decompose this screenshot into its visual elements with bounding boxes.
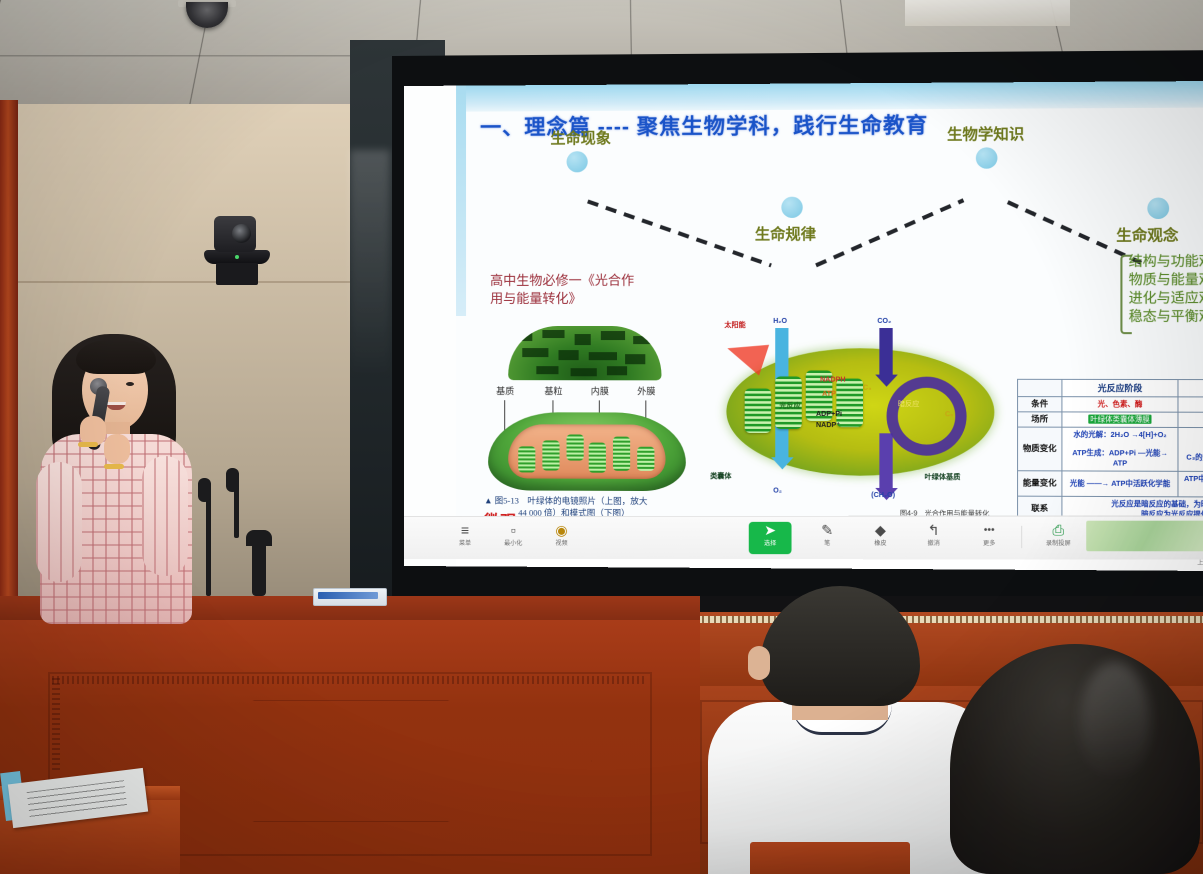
pen-icon: ✎ [806, 522, 849, 539]
more-icon: ••• [968, 522, 1011, 539]
output-label-o2: O₂ [773, 488, 782, 495]
node-label-2: 生命规律 [755, 223, 816, 244]
grana-stack [613, 437, 630, 471]
camera-status-led [235, 255, 239, 259]
concept-item-4: 稳态与平衡观等 [1129, 308, 1203, 326]
toolbar-menu-label: 菜单 [444, 540, 486, 549]
concept-item-1: 结构与功能观 [1129, 252, 1203, 271]
thylakoid-stack [745, 389, 771, 433]
toolbar-menu-button[interactable]: ≡ 菜单 [444, 522, 486, 549]
concept-item-3: 进化与适应观 [1129, 289, 1203, 307]
chloroplast-label-1: 基质 [496, 384, 514, 397]
cell-matter-dark-line2: C₃的还原：2C3 +ATP [H]→ (CH₂O)+C₅ [1181, 452, 1203, 463]
toolbar-minimize-button[interactable]: ▫ 最小化 [492, 522, 534, 549]
node-label-3: 生物学知识 [947, 123, 1024, 145]
node-dot-4 [1147, 198, 1169, 219]
node-dot-1 [567, 151, 588, 172]
presenter-bracelet-left [78, 442, 98, 447]
toolbar-record-cast-button[interactable]: ⎙ 录制投屏 [1031, 522, 1085, 549]
presenter-hand-right [104, 434, 130, 464]
photosynthesis-figure: 太阳能 H₂O CO₂ [708, 314, 1005, 532]
cell-location-light-text: 叶绿体类囊体薄膜 [1088, 415, 1152, 424]
input-label-water: H₂O [773, 318, 787, 325]
electron-micrograph-image [508, 326, 661, 380]
microphone-clip [252, 538, 266, 596]
calvin-cycle-ring [887, 377, 967, 456]
slide-left-accent [456, 86, 466, 316]
audience-1-hair [760, 586, 920, 706]
grana-stack [542, 440, 559, 470]
node-dot-3 [976, 147, 998, 168]
table-corner-cell [1018, 379, 1062, 396]
node-label-1: 生命现象 [550, 127, 611, 148]
grana-stack [518, 446, 535, 472]
toolbar-select-label: 选择 [749, 540, 792, 549]
chloroplast-label-2: 基粒 [544, 384, 562, 397]
toolbar-more-button[interactable]: ••• 更多 [968, 522, 1011, 549]
podium-comb-trim [52, 676, 646, 684]
cursor-select-icon: ➤ [749, 522, 792, 539]
audience-1-ear [748, 646, 770, 680]
leader-line-1 [504, 400, 505, 430]
menu-icon: ≡ [444, 522, 486, 539]
molecule-adp-pi: ADP+Pi [816, 411, 842, 418]
light-dark-reaction-table: 光反应阶段 暗反应阶段 条件 光、色素、酶 不需光、需酶、[H] 场所 叶绿体类… [1017, 379, 1203, 524]
audience-1-chair-back [750, 842, 910, 874]
undo-icon: ↰ [912, 522, 955, 539]
audience-member-1 [700, 586, 990, 874]
presenter-person [30, 330, 210, 620]
arrow-sugar-out [879, 433, 892, 500]
concept-item-2: 物质与能量观 [1129, 271, 1203, 290]
row-header-location: 场所 [1018, 412, 1062, 427]
molecule-nadph: NADPH [820, 377, 845, 384]
figure-caption-line1: ▲ 图5-13 叶绿体的电镜照片（上图，放大 [484, 494, 692, 507]
node-label-4: 生命观念 [1116, 224, 1178, 246]
ceiling-light-panel [905, 0, 1070, 26]
audience-2-hair-highlight [1080, 662, 1150, 782]
cell-location-dark: 叶绿体基质中 [1178, 412, 1203, 428]
input-label-co2: CO₂ [877, 318, 891, 325]
row-header-energy: 能量变化 [1018, 471, 1062, 497]
table-col-light: 光反应阶段 [1062, 379, 1178, 396]
cell-location-light: 叶绿体类囊体薄膜 [1062, 412, 1178, 428]
table-row: 能量变化 光能 ——→ ATP中活跃化学能 ATP中活跃化学能 —→ 有机物中稳… [1018, 471, 1203, 498]
cell-matter-dark: CO₂的固定：CO2+C5 → 2C3 C₃的还原：2C3 +ATP [H]→ … [1178, 427, 1203, 471]
podium-microphone-head-2 [226, 468, 239, 492]
wall-seam [0, 281, 404, 283]
camera-mount [216, 263, 258, 285]
table-row: 场所 叶绿体类囊体薄膜 叶绿体基质中 [1018, 412, 1203, 428]
toolbar-select-button[interactable]: ➤ 选择 [749, 522, 792, 554]
structure-label-thylakoid: 类囊体 [710, 471, 731, 481]
chloroplast-model-image [488, 412, 686, 491]
whiteboard-toolbar[interactable]: ≡ 菜单 ▫ 最小化 ◉ 视频 ➤ 选择 ✎ 笔 ◆ 橡皮 ↰ 撤消 ••• [404, 516, 1203, 560]
toolbar-undo-label: 撤消 [912, 540, 955, 549]
presenter-arm-right [142, 456, 188, 576]
slide-title: 一、理念篇 ---- 聚焦生物学科，践行生命教育 [480, 109, 928, 142]
toolbar-undo-button[interactable]: ↰ 撤消 [912, 522, 955, 549]
concept-list: 结构与功能观 物质与能量观 进化与适应观 稳态与平衡观等 [1129, 252, 1203, 326]
molecule-atp: ATP [822, 391, 836, 398]
minimize-icon: ▫ [492, 522, 534, 539]
chloroplast-figure: 基质 基粒 内膜 外膜 [478, 326, 692, 527]
microphone-clip-head [246, 530, 272, 546]
output-label-sugar: (CH₂O) [871, 492, 895, 499]
grana-stack [589, 443, 606, 473]
chloroplast-label-3: 内膜 [591, 384, 609, 397]
chloroplast-stroma [508, 424, 665, 479]
cell-matter-light-line1: 水的光解：2H₂O →4[H]+O₂ [1065, 430, 1176, 440]
table-row: 物质变化 水的光解：2H₂O →4[H]+O₂ ATP生成：ADP+Pi —光能… [1018, 427, 1203, 472]
camera-lens-icon [232, 224, 251, 243]
cell-matter-light: 水的光解：2H₂O →4[H]+O₂ ATP生成：ADP+Pi —光能→ ATP [1062, 427, 1178, 471]
slide-header-band [456, 81, 1203, 112]
toolbar-record-cast-label: 录制投屏 [1031, 540, 1085, 549]
toolbar-pen-button[interactable]: ✎ 笔 [806, 522, 849, 549]
toolbar-more-label: 更多 [968, 540, 1011, 549]
stage-label-light: 光反应 [779, 401, 800, 411]
toolbar-minimize-label: 最小化 [492, 540, 534, 549]
cell-conditions-light: 光、色素、酶 [1062, 397, 1178, 413]
presenter-bracelet-right [104, 464, 124, 469]
molecule-c3: C₃ [863, 385, 871, 392]
row-header-conditions: 条件 [1018, 397, 1062, 412]
led-display-screen[interactable]: 一、理念篇 ---- 聚焦生物学科，践行生命教育 生命现象 生命规律 生物学知识… [404, 81, 1203, 571]
cell-conditions-dark: 不需光、需酶、[H] [1178, 397, 1203, 413]
table-row: 条件 光、色素、酶 不需光、需酶、[H] [1018, 397, 1203, 413]
toolbar-divider [1021, 526, 1022, 548]
table-col-dark: 暗反应阶段 [1178, 380, 1203, 398]
toolbar-video-button[interactable]: ◉ 视频 [540, 522, 582, 549]
toolbar-pen-label: 笔 [806, 540, 849, 549]
table-header-row: 光反应阶段 暗反应阶段 [1018, 379, 1203, 397]
node-dot-2 [781, 197, 802, 218]
eraser-icon: ◆ [859, 522, 902, 539]
nameplate-blue-band [318, 592, 378, 599]
cell-energy-dark: ATP中活跃化学能 —→ 有机物中稳定化学能 [1178, 471, 1203, 497]
toolbar-video-label: 视频 [540, 540, 582, 549]
presenter-eye-right [126, 382, 134, 386]
thylakoid-stack [836, 379, 863, 428]
toolbar-preview-thumbnail[interactable] [1086, 521, 1203, 552]
chloroplast-label-4: 外膜 [637, 384, 655, 397]
chloroplast-part-labels: 基质 基粒 内膜 外膜 [478, 384, 692, 400]
cell-energy-light: 光能 ——→ ATP中活跃化学能 [1062, 471, 1178, 497]
toolbar-eraser-label: 橡皮 [859, 540, 902, 549]
arrow-co2-in [879, 328, 892, 387]
lecture-hall-photo: 一、理念篇 ---- 聚焦生物学科，践行生命教育 生命现象 生命规律 生物学知识… [0, 0, 1203, 874]
molecule-nadp: NADP⁺ [816, 421, 840, 429]
cell-matter-dark-line1: CO₂的固定：CO2+C5 → 2C3 [1181, 436, 1203, 447]
cell-matter-light-line2: ATP生成：ADP+Pi —光能→ ATP [1065, 448, 1176, 469]
input-label-sunlight: 太阳能 [724, 320, 745, 330]
audience-2-hair [950, 644, 1200, 874]
textbook-reference: 高中生物必修一《光合作用与能量转化》 [490, 272, 641, 308]
grana-stack [567, 434, 584, 460]
left-wall-trim [0, 100, 18, 640]
stage-label-dark: 暗反应 [898, 399, 920, 409]
presentation-slide: 一、理念篇 ---- 聚焦生物学科，践行生命教育 生命现象 生命规律 生物学知识… [456, 81, 1203, 571]
toolbar-eraser-button[interactable]: ◆ 橡皮 [859, 522, 902, 549]
record-cast-icon: ⎙ [1031, 522, 1085, 539]
row-header-matter: 物质变化 [1018, 427, 1062, 471]
panel-gloss [350, 150, 390, 380]
presenter-fringe [76, 340, 156, 374]
molecule-c5: C₅ [945, 411, 953, 418]
podium-comb-trim-vertical [52, 676, 60, 770]
audience-member-2 [950, 644, 1200, 874]
presenter-arm-left [36, 462, 82, 582]
video-icon: ◉ [540, 522, 582, 539]
grana-stack [637, 447, 654, 471]
structure-label-stroma: 叶绿体基质 [924, 472, 960, 482]
